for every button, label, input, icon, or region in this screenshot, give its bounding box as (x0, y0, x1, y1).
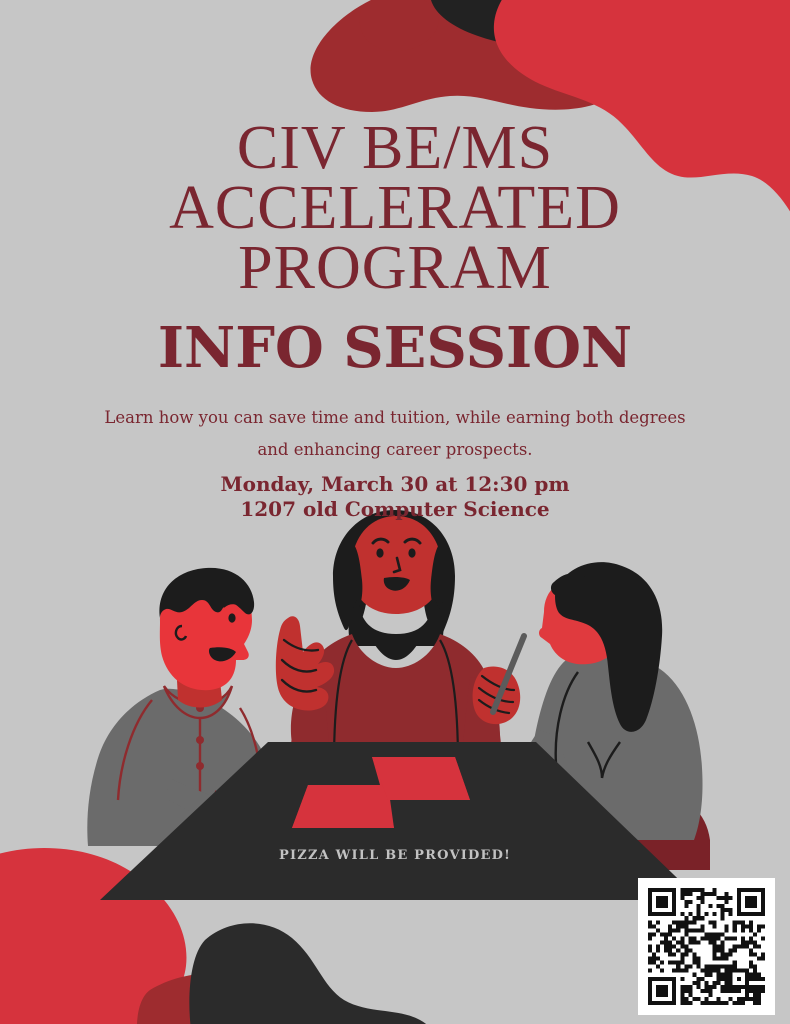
eye-left (376, 548, 383, 557)
poster-canvas: CIV BE/MS ACCELERATED PROGRAM INFO SESSI… (0, 0, 790, 1024)
red-paper-lower (292, 785, 394, 828)
face (351, 516, 442, 614)
title-line-2: ACCELERATED (0, 178, 790, 238)
hand-right (473, 667, 521, 725)
pizza-note: PIZZA WILL BE PROVIDED! (0, 848, 790, 863)
title-line-3: PROGRAM (0, 238, 790, 298)
center-person-woman-in-hijab (276, 510, 524, 770)
page-title: CIV BE/MS ACCELERATED PROGRAM (0, 0, 790, 298)
headline-block: CIV BE/MS ACCELERATED PROGRAM INFO SESSI… (0, 0, 790, 522)
shirt-button-2 (196, 736, 204, 744)
event-details: Monday, March 30 at 12:30 pm 1207 old Co… (0, 466, 790, 522)
title-line-1: CIV BE/MS (0, 118, 790, 178)
blurb-text: Learn how you can save time and tuition,… (95, 376, 695, 466)
qr-code-canvas (648, 888, 765, 1005)
event-location: 1207 old Computer Science (0, 497, 790, 522)
eye-right (408, 548, 415, 557)
eye (228, 613, 235, 622)
subtitle: INFO SESSION (0, 298, 790, 376)
event-datetime: Monday, March 30 at 12:30 pm (0, 472, 790, 497)
red-paper-upper (372, 757, 470, 800)
shirt-button-3 (196, 762, 204, 770)
qr-code[interactable] (638, 878, 775, 1015)
